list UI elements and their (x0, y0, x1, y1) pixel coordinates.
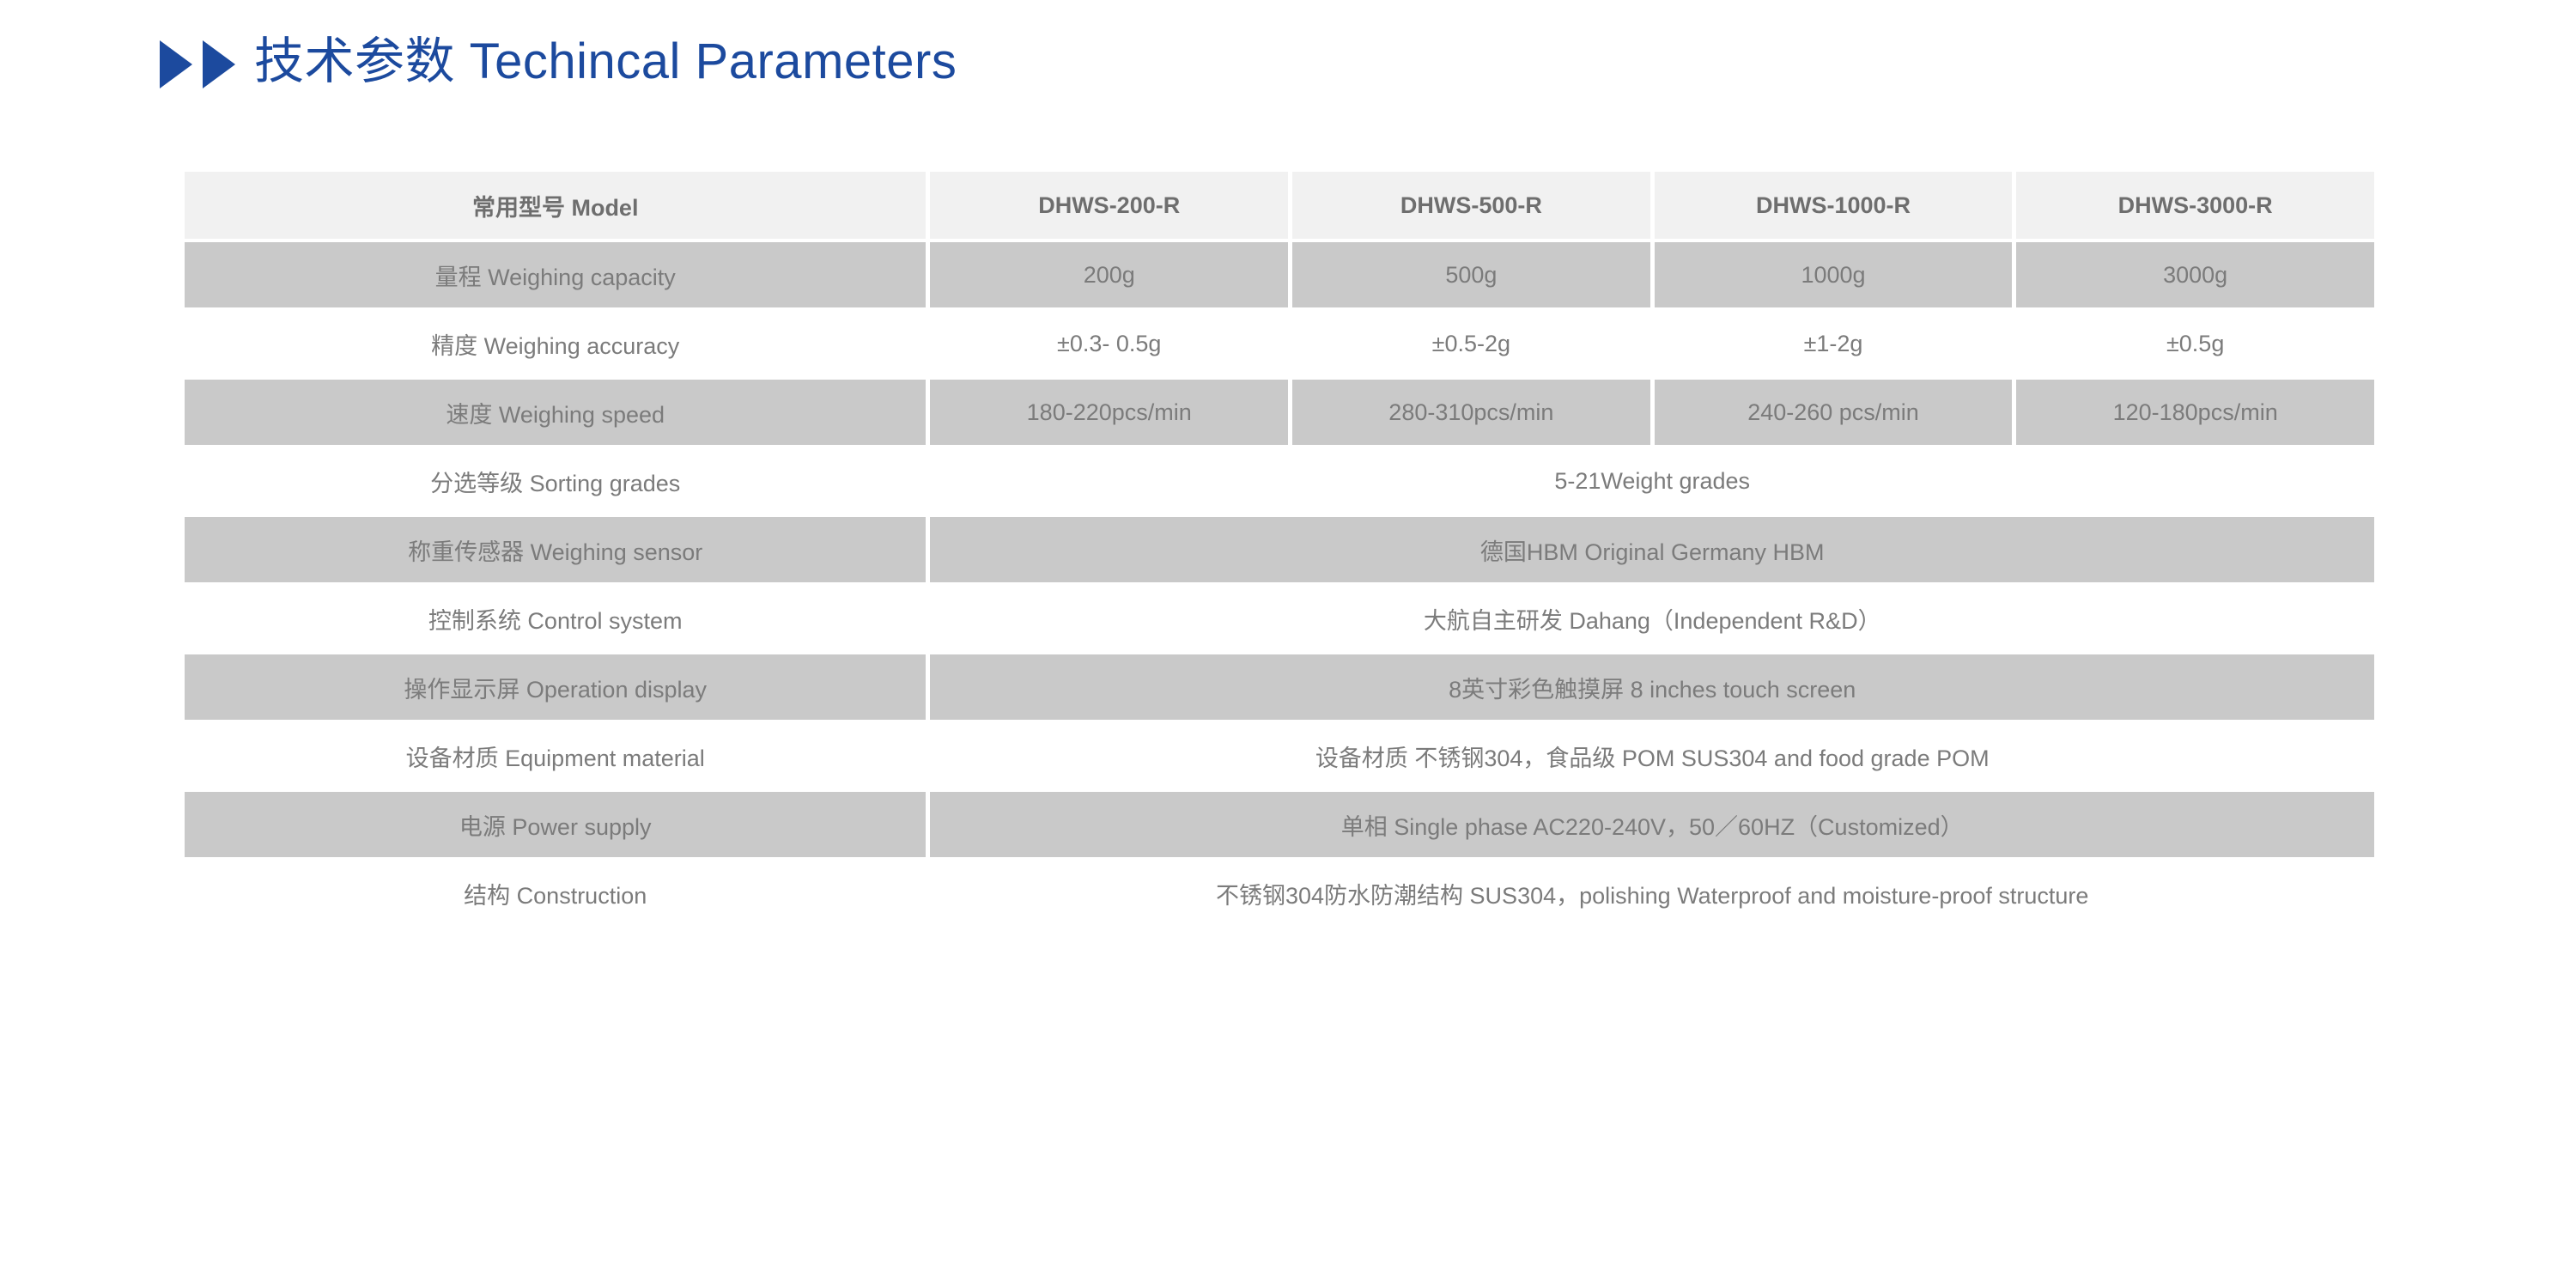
row-value: 180-220pcs/min (930, 380, 1288, 445)
column-header-model: 常用型号 Model (185, 172, 926, 239)
row-label: 操作显示屏 Operation display (185, 654, 926, 720)
table-row: 操作显示屏 Operation display8英寸彩色触摸屏 8 inches… (185, 654, 2374, 720)
row-label: 电源 Power supply (185, 792, 926, 857)
column-header-3: DHWS-1000-R (1655, 172, 2013, 239)
row-value-merged: 德国HBM Original Germany HBM (930, 517, 2374, 582)
table-row: 电源 Power supply单相 Single phase AC220-240… (185, 792, 2374, 857)
row-value: ±0.5g (2016, 311, 2374, 376)
table-row: 量程 Weighing capacity200g500g1000g3000g (185, 242, 2374, 307)
row-label: 控制系统 Control system (185, 586, 926, 651)
row-value: ±0.5-2g (1292, 311, 1650, 376)
technical-parameters-table: 常用型号 ModelDHWS-200-RDHWS-500-RDHWS-1000-… (180, 168, 2379, 929)
row-label: 速度 Weighing speed (185, 380, 926, 445)
row-value-merged: 8英寸彩色触摸屏 8 inches touch screen (930, 654, 2374, 720)
row-label: 量程 Weighing capacity (185, 242, 926, 307)
column-header-1: DHWS-200-R (930, 172, 1288, 239)
triangle-right-icon-1 (160, 40, 192, 88)
row-value: 280-310pcs/min (1292, 380, 1650, 445)
table-row: 分选等级 Sorting grades5-21Weight grades (185, 448, 2374, 514)
row-label: 称重传感器 Weighing sensor (185, 517, 926, 582)
table-row: 设备材质 Equipment material设备材质 不锈钢304，食品级 P… (185, 723, 2374, 788)
row-value: ±1-2g (1655, 311, 2013, 376)
row-value: 200g (930, 242, 1288, 307)
table-row: 称重传感器 Weighing sensor德国HBM Original Germ… (185, 517, 2374, 582)
row-label: 精度 Weighing accuracy (185, 311, 926, 376)
table-header-row: 常用型号 ModelDHWS-200-RDHWS-500-RDHWS-1000-… (185, 172, 2374, 239)
page-title: 技术参数 Techincal Parameters (160, 34, 957, 89)
row-value: 1000g (1655, 242, 2013, 307)
row-value-merged: 大航自主研发 Dahang（Independent R&D） (930, 586, 2374, 651)
table-row: 精度 Weighing accuracy±0.3- 0.5g±0.5-2g±1-… (185, 311, 2374, 376)
row-value: 120-180pcs/min (2016, 380, 2374, 445)
table-row: 结构 Construction不锈钢304防水防潮结构 SUS304，polis… (185, 861, 2374, 926)
page-title-text: 技术参数 Techincal Parameters (254, 34, 957, 89)
row-label: 设备材质 Equipment material (185, 723, 926, 788)
table-row: 控制系统 Control system大航自主研发 Dahang（Indepen… (185, 586, 2374, 651)
column-header-2: DHWS-500-R (1292, 172, 1650, 239)
title-arrow-group (160, 40, 235, 88)
row-label: 结构 Construction (185, 861, 926, 926)
row-value: ±0.3- 0.5g (930, 311, 1288, 376)
row-label: 分选等级 Sorting grades (185, 448, 926, 514)
row-value-merged: 不锈钢304防水防潮结构 SUS304，polishing Waterproof… (930, 861, 2374, 926)
table-row: 速度 Weighing speed180-220pcs/min280-310pc… (185, 380, 2374, 445)
page-title-cn: 技术参数 (254, 33, 455, 89)
row-value-merged: 5-21Weight grades (930, 448, 2374, 514)
row-value-merged: 设备材质 不锈钢304，食品级 POM SUS304 and food grad… (930, 723, 2374, 788)
page-title-en: Techincal Parameters (470, 33, 957, 89)
triangle-right-icon-2 (203, 40, 235, 88)
row-value-merged: 单相 Single phase AC220-240V，50／60HZ（Custo… (930, 792, 2374, 857)
row-value: 240-260 pcs/min (1655, 380, 2013, 445)
row-value: 500g (1292, 242, 1650, 307)
row-value: 3000g (2016, 242, 2374, 307)
column-header-4: DHWS-3000-R (2016, 172, 2374, 239)
